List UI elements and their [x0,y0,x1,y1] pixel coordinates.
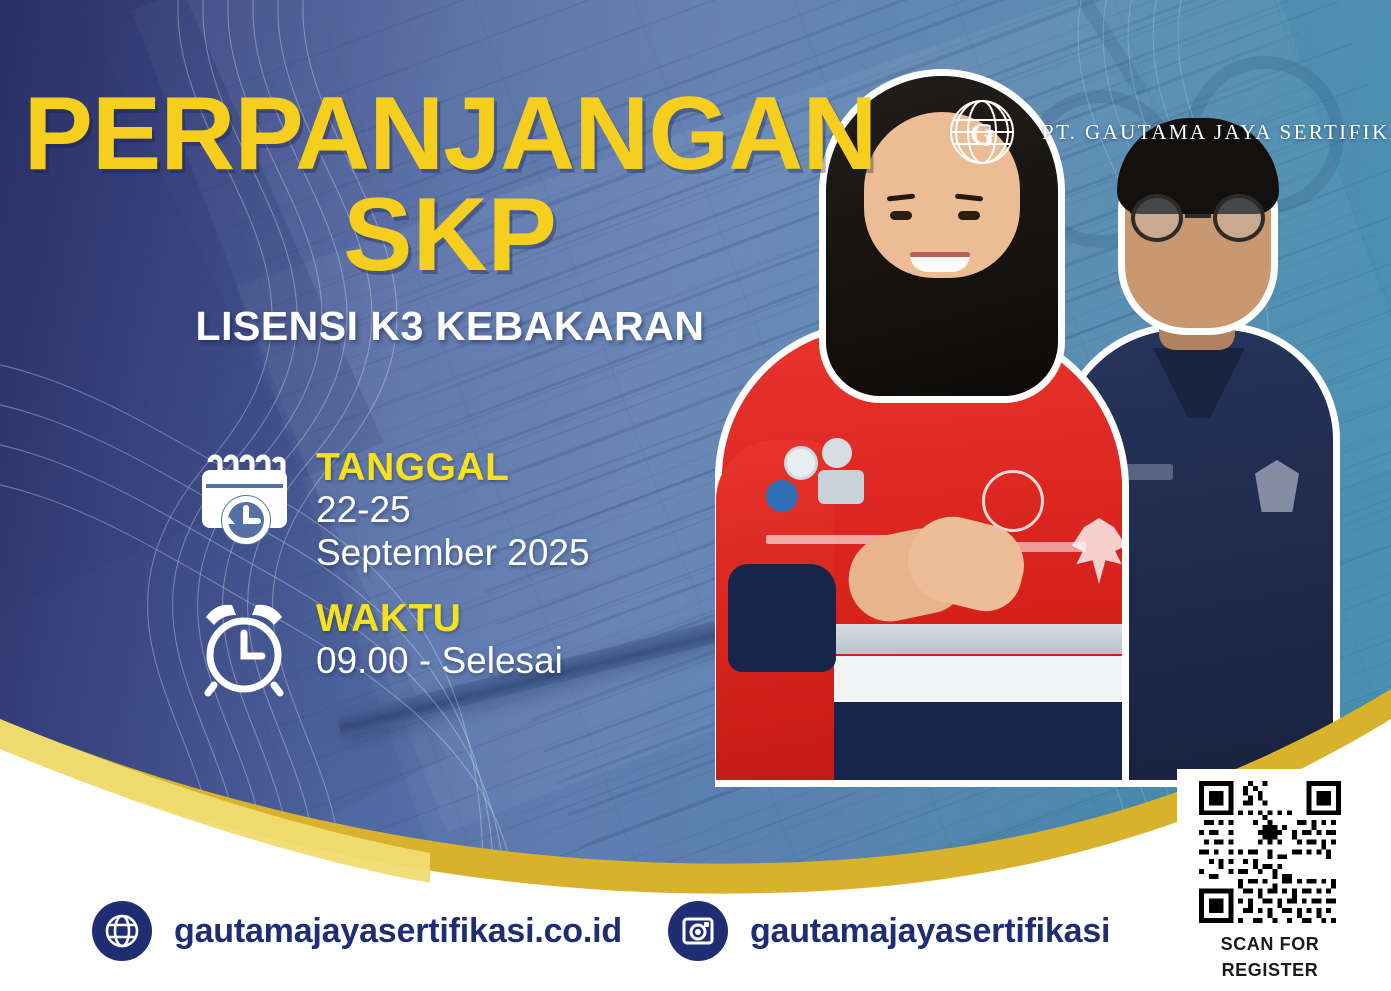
info-label-time: WAKTU [316,599,563,640]
info-row-date: TANGGAL 22-25 September 2025 [196,446,716,575]
instagram-handle: gautamajayasertifikasi [750,912,1110,951]
eyeglasses-worn-icon [1129,194,1267,244]
event-info-block: TANGGAL 22-25 September 2025 WAKTU 09.00… [196,446,716,697]
page-title-second-line: SKP [0,183,900,287]
calendar-clock-icon [196,446,292,546]
company-name: PT. GAUTAMA JAYA SERTIFIKASI [1042,120,1391,145]
qr-caption-line1: SCAN FOR [1221,931,1320,957]
footer-instagram[interactable]: gautamajayasertifikasi [668,901,1110,961]
instagram-icon [668,901,728,961]
info-value-date-2: September 2025 [316,532,590,575]
qr-caption-line2: REGISTER [1221,957,1320,983]
qr-register-panel[interactable]: SCAN FOR REGISTER [1177,769,1363,983]
globe-gjs-monogram-icon: G J [946,96,1018,168]
hero-title-block: PERPANJANGAN SKP LISENSI K3 KEBAKARAN [0,86,900,350]
info-value-date-1: 22-25 [316,489,590,532]
company-logo-lockup: G J PT. GAUTAMA JAYA SERTIFIKASI [946,96,1391,168]
qr-code-icon[interactable] [1197,781,1343,923]
info-row-time: WAKTU 09.00 - Selesai [196,597,716,697]
info-value-time-1: 09.00 - Selesai [316,640,563,683]
svg-text:J: J [982,126,994,152]
alarm-clock-icon [196,597,292,697]
page-subtitle: LISENSI K3 KEBAKARAN [0,303,900,350]
page-title: PERPANJANGAN [0,86,900,183]
website-url: gautamajayasertifikasi.co.id [174,912,622,951]
globe-icon [92,901,152,961]
poster-flyer: PERPANJANGAN SKP LISENSI K3 KEBAKARAN G … [0,0,1391,991]
info-label-date: TANGGAL [316,448,590,489]
footer-website[interactable]: gautamajayasertifikasi.co.id [92,901,622,961]
